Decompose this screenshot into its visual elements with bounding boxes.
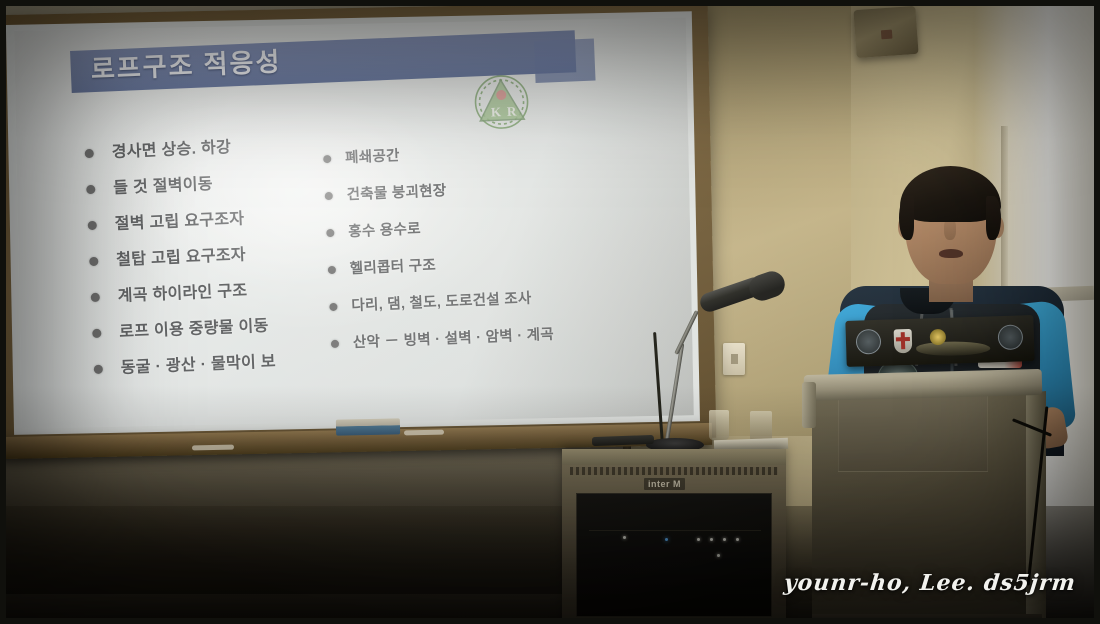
bullet-text: 들 것 절벽이동 xyxy=(113,170,214,198)
bullet-text: 폐쇄공간 xyxy=(345,144,400,167)
rack-equipment-bay xyxy=(576,493,772,617)
list-item: 경사면 상승. 하강 xyxy=(84,128,355,163)
status-led-icon xyxy=(697,538,700,541)
bullet-text: 산악 － 빙벽 · 설벽 · 암벽 · 계곡 xyxy=(352,323,554,352)
bullet-dot-icon xyxy=(85,149,94,158)
wall-speaker xyxy=(853,6,918,58)
bullet-text: 철탑 고립 요구조자 xyxy=(116,241,247,270)
bullet-text: 동굴 · 광산 · 물막이 보 xyxy=(120,347,276,377)
power-led-icon xyxy=(665,538,668,541)
av-equipment-rack: inter M xyxy=(562,449,786,618)
lectern-badge-sign xyxy=(845,315,1034,367)
projected-slide: 로프구조 적응성 K R xyxy=(14,17,694,428)
rack-brand-label: inter M xyxy=(644,478,685,490)
rack-unit-divider xyxy=(589,530,761,531)
list-item: 철탑 고립 요구조자 xyxy=(89,236,360,271)
list-item: 홍수 용수로 xyxy=(326,210,587,242)
bullet-text: 경사면 상승. 하강 xyxy=(111,133,231,162)
sign-shield-icon xyxy=(894,329,913,354)
list-item: 폐쇄공간 xyxy=(323,136,584,168)
whiteboard-surface: 로프구조 적응성 K R xyxy=(6,11,700,435)
slide-column-right: 폐쇄공간 건축물 붕괴현장 홍수 용수로 헬리콥터 구조 다리, 댐, 철도, … xyxy=(323,136,592,369)
list-item: 헬리콥터 구조 xyxy=(327,247,588,279)
list-item: 로프 이용 중량물 이동 xyxy=(92,308,363,343)
bullet-dot-icon xyxy=(325,192,333,200)
bullet-dot-icon xyxy=(92,329,101,338)
bullet-dot-icon xyxy=(331,340,339,348)
rack-vent-strip xyxy=(570,467,778,475)
bullet-dot-icon xyxy=(329,303,337,311)
bullet-dot-icon xyxy=(91,293,100,302)
sign-emblem-right-icon xyxy=(998,324,1024,350)
bullet-text: 건축물 붕괴현장 xyxy=(346,179,447,204)
photograph: 로프구조 적응성 K R xyxy=(0,0,1100,624)
bullet-dot-icon xyxy=(86,185,95,194)
speaker-grill-icon xyxy=(881,30,893,40)
slide-column-left: 경사면 상승. 하강 들 것 절벽이동 절벽 고립 요구조자 철탑 고립 요구조… xyxy=(84,128,364,391)
status-led-icon xyxy=(723,538,726,541)
bullet-dot-icon xyxy=(328,266,336,274)
whiteboard-marker xyxy=(404,430,444,436)
bullet-text: 로프 이용 중량물 이동 xyxy=(119,312,269,342)
list-item: 들 것 절벽이동 xyxy=(86,164,357,199)
list-item: 건축물 붕괴현장 xyxy=(324,173,585,205)
slide-bullet-area: 경사면 상승. 하강 들 것 절벽이동 절벽 고립 요구조자 철탑 고립 요구조… xyxy=(14,17,694,428)
bullet-dot-icon xyxy=(88,221,97,230)
list-item: 산악 － 빙벽 · 설벽 · 암벽 · 계곡 xyxy=(330,321,591,353)
bullet-text: 절벽 고립 요구조자 xyxy=(114,205,245,234)
status-led-icon xyxy=(736,538,739,541)
whiteboard-frame: 로프구조 적응성 K R xyxy=(6,6,716,452)
list-item: 다리, 댐, 철도, 도로건설 조사 xyxy=(329,284,590,316)
drinking-glass xyxy=(750,411,772,442)
bullet-dot-icon xyxy=(326,229,334,237)
bullet-text: 계곡 하이라인 구조 xyxy=(117,277,248,306)
whiteboard-marker xyxy=(192,445,234,451)
lectern xyxy=(812,378,1034,618)
mouth xyxy=(939,249,963,258)
bullet-text: 헬리콥터 구조 xyxy=(349,254,436,279)
lectern-top-edge xyxy=(804,369,1043,401)
bullet-text: 홍수 용수로 xyxy=(348,217,421,241)
bullet-dot-icon xyxy=(94,365,103,374)
sign-map-graphic xyxy=(916,340,990,356)
photo-content: 로프구조 적응성 K R xyxy=(6,6,1094,618)
lectern-front-panel xyxy=(838,394,988,472)
bullet-dot-icon xyxy=(89,257,98,266)
lectern-base xyxy=(812,614,1042,618)
lectern-rail xyxy=(802,382,816,428)
drinking-glass xyxy=(709,410,729,440)
list-item: 동굴 · 광산 · 물막이 보 xyxy=(93,344,364,379)
sign-emblem-left-icon xyxy=(856,329,882,355)
hair-side-right xyxy=(986,196,1001,240)
bullet-text: 다리, 댐, 철도, 도로건설 조사 xyxy=(351,287,532,316)
status-led-icon xyxy=(710,538,713,541)
status-led-icon xyxy=(717,554,720,557)
hair-side-left xyxy=(899,196,914,240)
whiteboard-eraser xyxy=(336,418,400,435)
status-led-icon xyxy=(623,536,626,539)
list-item: 계곡 하이라인 구조 xyxy=(90,272,361,307)
light-switch[interactable] xyxy=(723,343,745,375)
bullet-dot-icon xyxy=(323,155,331,163)
rack-top-surface xyxy=(562,449,786,465)
list-item: 절벽 고립 요구조자 xyxy=(87,200,358,235)
